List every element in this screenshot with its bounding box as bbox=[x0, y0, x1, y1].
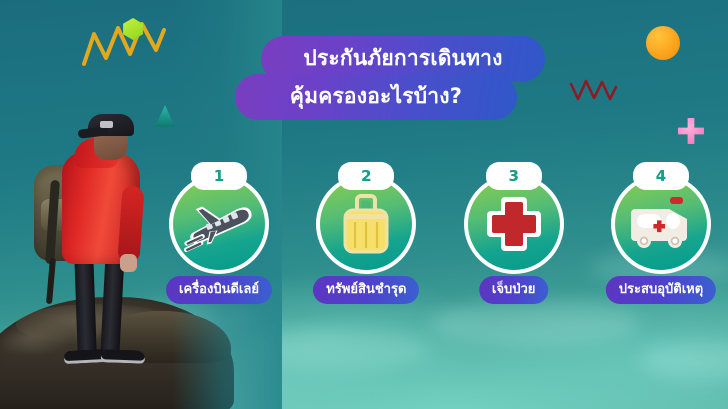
cap-logo bbox=[100, 121, 113, 128]
hiker-shoe-right bbox=[101, 349, 145, 364]
badge-number: 3 bbox=[508, 167, 518, 185]
badge-number: 1 bbox=[214, 167, 224, 185]
backpack-dangle-strap bbox=[46, 258, 56, 304]
badge-number-tab: 4 bbox=[633, 162, 689, 190]
benefit-badge[interactable]: 2 ทรัพย์สินชำรุด bbox=[307, 162, 425, 308]
badge-number-tab: 1 bbox=[191, 162, 247, 190]
hiker-hand bbox=[120, 254, 137, 272]
badge-label: เครื่องบินดีเลย์ bbox=[179, 283, 259, 297]
hiker-arm bbox=[117, 185, 144, 262]
badge-label: เจ็บป่วย bbox=[492, 283, 535, 297]
benefit-badge[interactable]: 1 เครื่องบินดีเลย์ bbox=[160, 162, 278, 308]
title-line-1: ประกันภัยการเดินทาง bbox=[303, 48, 502, 71]
orange-sun-icon bbox=[646, 26, 680, 60]
suitcase-icon bbox=[337, 192, 395, 256]
badge-number-tab: 2 bbox=[338, 162, 394, 190]
badge-label-pill[interactable]: เครื่องบินดีเลย์ bbox=[166, 276, 272, 304]
cloud-wisp bbox=[250, 330, 430, 370]
hiker-leg-left bbox=[74, 252, 97, 358]
badge-number: 4 bbox=[656, 167, 666, 185]
badge-label: ประสบอุบัติเหตุ bbox=[619, 283, 703, 297]
badge-label-pill[interactable]: ทรัพย์สินชำรุด bbox=[313, 276, 419, 304]
title-banner: ประกันภัยการเดินทาง คุ้มครองอะไรบ้าง? bbox=[235, 36, 545, 122]
benefit-badge-row: 1 เครื่องบินดีเลย์ 2 bbox=[160, 162, 720, 308]
infographic-canvas: ประกันภัยการเดินทาง คุ้มครองอะไรบ้าง? bbox=[0, 0, 728, 409]
airplane-icon bbox=[180, 196, 258, 252]
benefit-badge[interactable]: 3 เจ็บป่วย bbox=[455, 162, 573, 308]
badge-number-tab: 3 bbox=[486, 162, 542, 190]
dark-red-zigzag-icon bbox=[568, 72, 620, 106]
badge-number: 2 bbox=[361, 167, 371, 185]
ambulance-icon bbox=[625, 195, 697, 253]
badge-label-pill[interactable]: ประสบอุบัติเหตุ bbox=[606, 276, 716, 304]
medical-cross-icon bbox=[484, 194, 544, 254]
badge-label-pill[interactable]: เจ็บป่วย bbox=[479, 276, 548, 304]
title-line-2: คุ้มครองอะไรบ้าง? bbox=[290, 86, 462, 109]
benefit-badge[interactable]: 4 ประสบอุบัติเหตุ bbox=[602, 162, 720, 308]
title-line-2-pill: คุ้มครองอะไรบ้าง? bbox=[235, 74, 517, 120]
badge-label: ทรัพย์สินชำรุด bbox=[326, 283, 406, 297]
